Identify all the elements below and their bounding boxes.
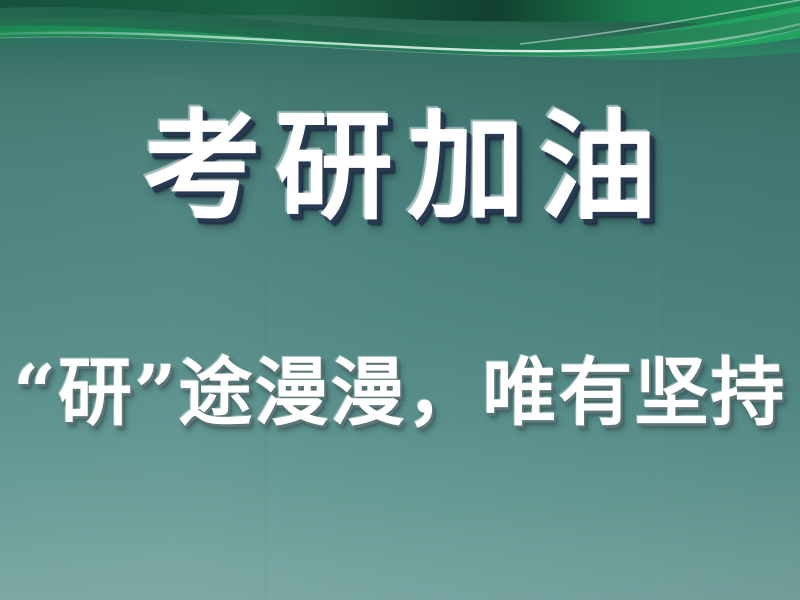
slide-subtitle-container: “研”途漫漫，唯有坚持 xyxy=(0,356,800,430)
slide-title-container: 考研加油 xyxy=(0,108,800,226)
slide-title: 考研加油 xyxy=(129,108,671,226)
presentation-slide: 考研加油 “研”途漫漫，唯有坚持 xyxy=(0,0,800,600)
top-wave-decoration xyxy=(0,0,800,86)
slide-subtitle: “研”途漫漫，唯有坚持 xyxy=(13,356,786,430)
slide-background-seams xyxy=(0,0,800,600)
